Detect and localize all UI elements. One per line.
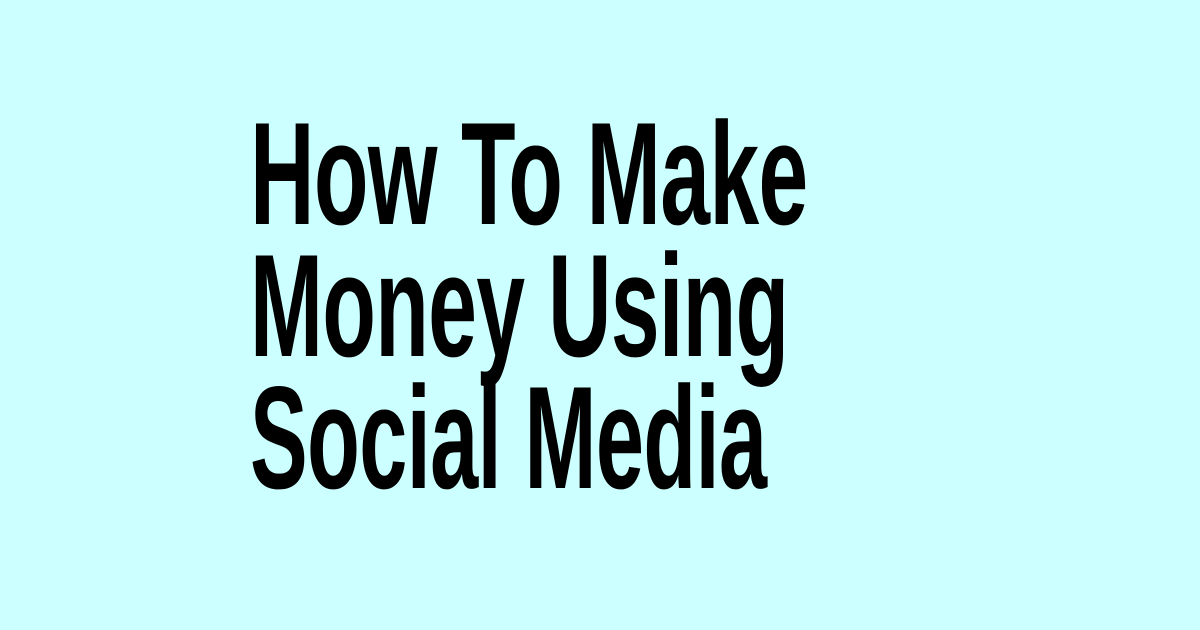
headline-line-2-text: Money Using [250,240,672,372]
headline-row-3: Social Media [250,372,954,504]
headline-block: How To Make Money Using Social Media [250,108,954,504]
headline-row-1: How To Make [250,108,954,240]
title-card-canvas: How To Make Money Using Social Media [0,0,1200,630]
headline-line-3-text: Social Media [250,372,667,504]
headline-line-1-text: How To Make [250,108,681,240]
headline-row-2: Money Using [250,240,954,372]
